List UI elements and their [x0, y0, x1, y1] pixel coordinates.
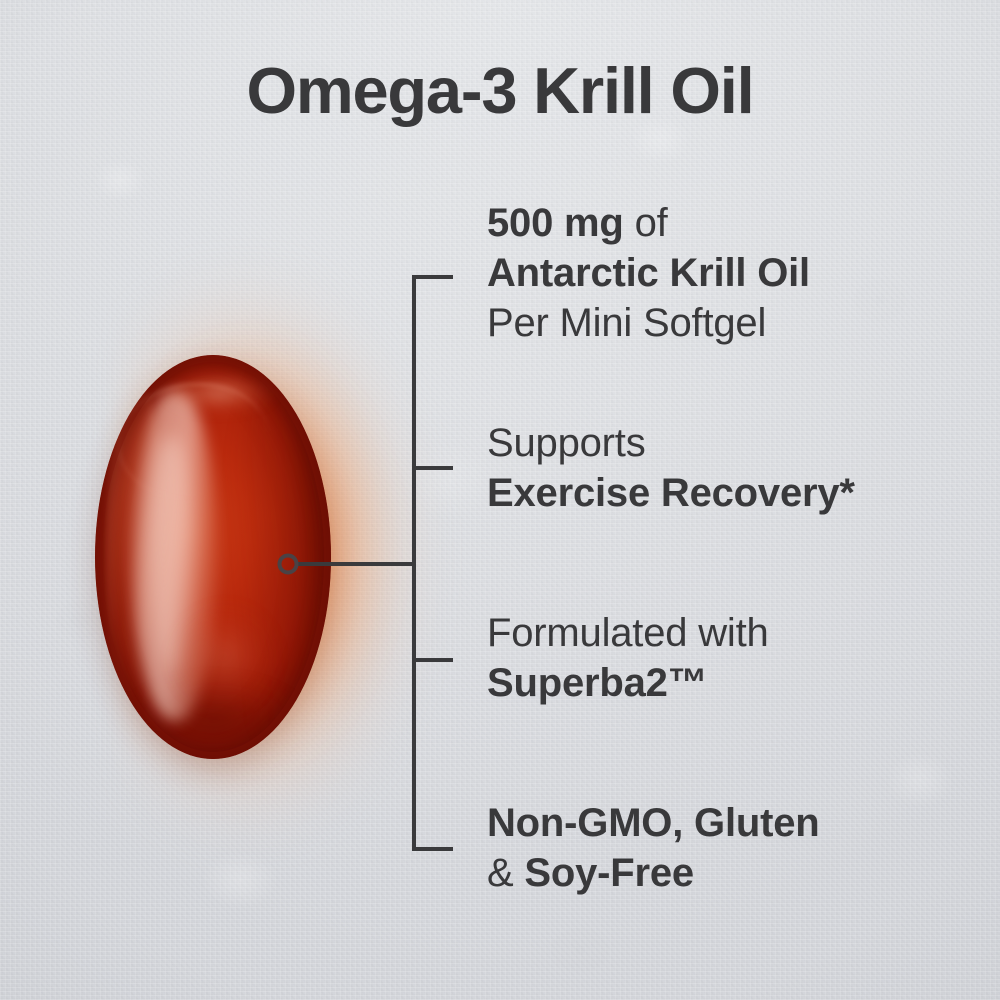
feature-text-bold: Soy-Free	[524, 851, 694, 895]
feature-line: Antarctic Krill Oil	[487, 248, 810, 298]
feature-line: Supports	[487, 418, 855, 468]
feature-text-regular: of	[624, 201, 668, 245]
capsule-rim	[95, 355, 331, 759]
feature-text-regular: &	[487, 851, 524, 895]
feature-line: Exercise Recovery*	[487, 468, 855, 518]
feature-ingredient-brand: Formulated withSuperba2™	[487, 608, 769, 708]
feature-text-regular: Supports	[487, 421, 646, 465]
krill-oil-softgel	[95, 355, 331, 759]
capsule-body	[95, 355, 331, 759]
feature-text-regular: Formulated with	[487, 611, 769, 655]
feature-line: Per Mini Softgel	[487, 298, 810, 348]
feature-text-bold: Exercise Recovery*	[487, 471, 855, 515]
feature-line: Non-GMO, Gluten	[487, 798, 820, 848]
feature-text-regular: Per Mini Softgel	[487, 301, 766, 345]
feature-text-bold: Superba2™	[487, 661, 708, 705]
feature-line: & Soy-Free	[487, 848, 820, 898]
feature-certifications: Non-GMO, Gluten& Soy-Free	[487, 798, 820, 898]
feature-line: Formulated with	[487, 608, 769, 658]
feature-text-bold: Non-GMO, Gluten	[487, 801, 820, 845]
feature-text-bold: 500 mg	[487, 201, 624, 245]
feature-line: Superba2™	[487, 658, 769, 708]
page-title: Omega-3 Krill Oil	[0, 57, 1000, 125]
product-infographic: Omega-3 Krill Oil 500 mg	[0, 0, 1000, 1000]
feature-dosage: 500 mg ofAntarctic Krill OilPer Mini Sof…	[487, 198, 810, 348]
feature-text-bold: Antarctic Krill Oil	[487, 251, 810, 295]
feature-benefit: SupportsExercise Recovery*	[487, 418, 855, 518]
feature-line: 500 mg of	[487, 198, 810, 248]
